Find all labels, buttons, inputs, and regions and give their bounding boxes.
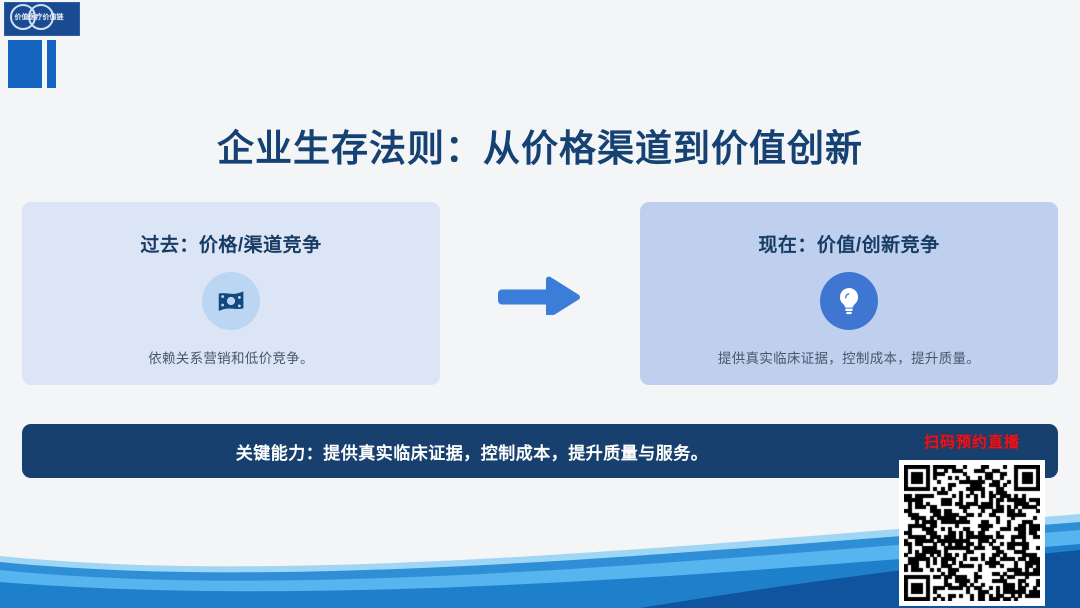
qr-code-box[interactable] [899, 460, 1045, 606]
arrow-right-icon [498, 275, 584, 315]
slide-canvas: 价值医疗价值链 企业生存法则：从价格渠道到价值创新 过去：价格/渠道竞争 依赖关… [0, 0, 1080, 608]
lightbulb-icon [834, 286, 864, 316]
card-now-description: 提供真实临床证据，控制成本，提升质量。 [640, 347, 1058, 367]
card-past: 过去：价格/渠道竞争 依赖关系营销和低价竞争。 [22, 202, 440, 385]
brand-logo: 价值医疗价值链 [0, 0, 92, 96]
logo-bar-wide [8, 40, 42, 88]
qr-caption: 扫码预约直播 [894, 431, 1050, 452]
page-title: 企业生存法则：从价格渠道到价值创新 [0, 118, 1080, 172]
card-past-description: 依赖关系营销和低价竞争。 [22, 347, 440, 367]
card-past-title: 过去：价格/渠道竞争 [22, 230, 440, 257]
transition-arrow [498, 275, 584, 315]
card-past-icon-circle [202, 272, 260, 330]
key-capability-text: 关键能力：提供真实临床证据，控制成本，提升质量与服务。 [236, 439, 709, 464]
banknote-icon [216, 286, 246, 316]
card-now-icon-circle [820, 272, 878, 330]
card-now: 现在：价值/创新竞争 提供真实临床证据，控制成本，提升质量。 [640, 202, 1058, 385]
logo-bar-thin [47, 40, 56, 88]
logo-text: 价值医疗价值链 [8, 13, 70, 22]
qr-promo[interactable]: 扫码预约直播 [894, 428, 1050, 608]
qr-code[interactable] [904, 465, 1040, 601]
card-now-title: 现在：价值/创新竞争 [640, 230, 1058, 257]
